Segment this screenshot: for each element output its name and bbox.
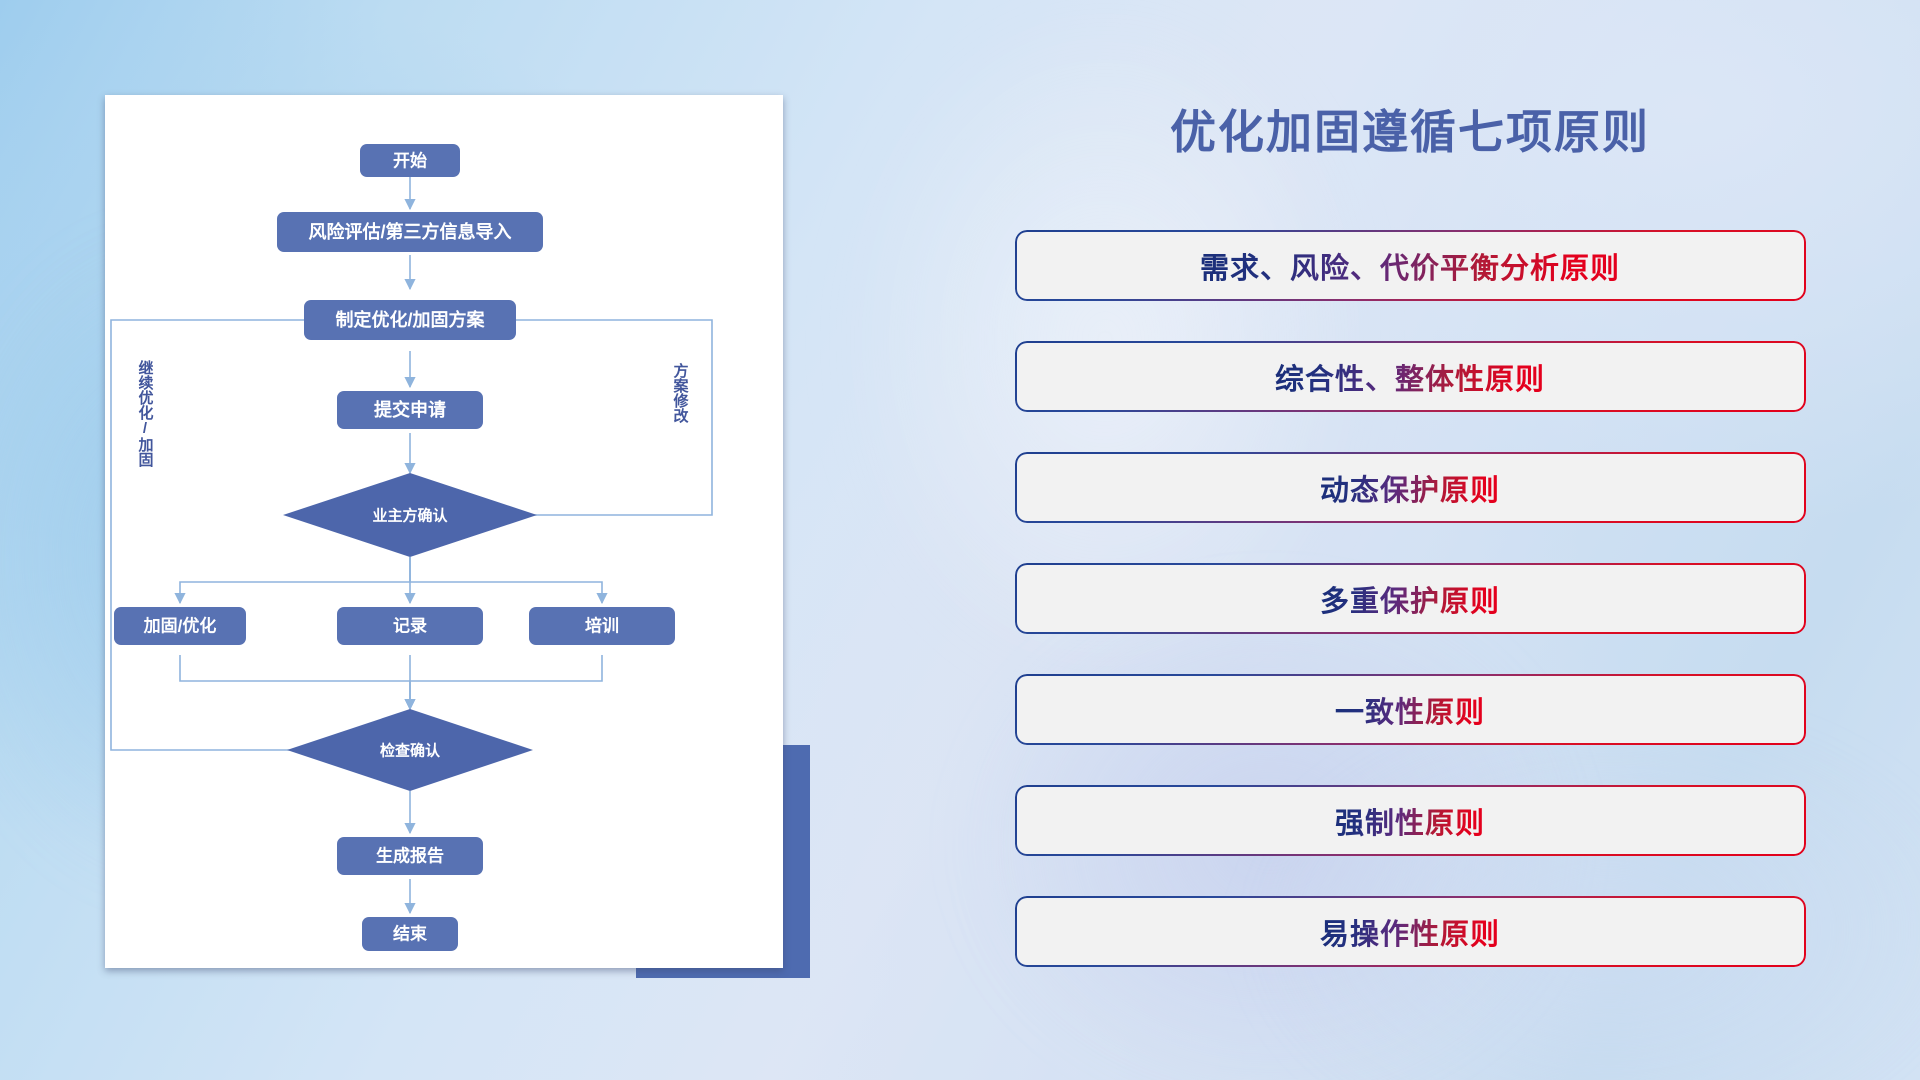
flow-node-end[interactable]: 结束 xyxy=(362,917,458,951)
flow-node-submit[interactable]: 提交申请 xyxy=(337,391,483,429)
flowchart-diagram: 开始 风险评估/第三方信息导入 制定优化/加固方案 提交申请 业主方确认 xyxy=(105,95,783,968)
principle-item-6[interactable]: 强制性原则 xyxy=(1017,787,1804,854)
flow-edge-label-left-loop: 继续优化/加固 xyxy=(137,359,155,468)
flow-node-submit-label: 提交申请 xyxy=(374,399,446,420)
principle-item-1[interactable]: 需求、风险、代价平衡分析原则 xyxy=(1017,232,1804,299)
principles-list: 需求、风险、代价平衡分析原则 综合性、整体性原则 动态保护原则 多重保护原则 一… xyxy=(900,232,1920,1009)
principle-label-4: 多重保护原则 xyxy=(1320,578,1500,620)
flow-node-record-label: 记录 xyxy=(393,617,427,636)
principle-label-1: 需求、风险、代价平衡分析原则 xyxy=(1200,245,1620,287)
flowchart-panel: 开始 风险评估/第三方信息导入 制定优化/加固方案 提交申请 业主方确认 xyxy=(0,0,900,1080)
principle-label-3: 动态保护原则 xyxy=(1320,467,1500,509)
flow-node-training[interactable]: 培训 xyxy=(529,607,675,645)
principle-item-7[interactable]: 易操作性原则 xyxy=(1017,898,1804,965)
principle-item-3[interactable]: 动态保护原则 xyxy=(1017,454,1804,521)
principle-label-5: 一致性原则 xyxy=(1335,689,1485,731)
flow-node-reinforce-label: 加固/优化 xyxy=(143,616,217,636)
principle-item-4[interactable]: 多重保护原则 xyxy=(1017,565,1804,632)
flow-node-start[interactable]: 开始 xyxy=(360,144,460,177)
flow-node-check-label: 检查确认 xyxy=(380,742,441,760)
flow-node-risk[interactable]: 风险评估/第三方信息导入 xyxy=(277,212,543,252)
flow-node-plan[interactable]: 制定优化/加固方案 xyxy=(304,300,516,340)
flow-node-owner-confirm-label: 业主方确认 xyxy=(372,507,448,525)
flow-edge-label-right-loop: 方案修改 xyxy=(672,362,690,424)
principles-panel: 优化加固遵循七项原则 需求、风险、代价平衡分析原则 综合性、整体性原则 动态保护… xyxy=(900,0,1920,1080)
flow-node-risk-label: 风险评估/第三方信息导入 xyxy=(309,221,512,242)
principle-label-2: 综合性、整体性原则 xyxy=(1275,356,1545,398)
flow-node-record[interactable]: 记录 xyxy=(337,607,483,645)
flow-node-reinforce[interactable]: 加固/优化 xyxy=(114,607,246,645)
flow-node-check[interactable]: 检查确认 xyxy=(287,709,533,791)
flow-node-training-label: 培训 xyxy=(585,616,619,636)
flow-node-start-label: 开始 xyxy=(393,151,427,171)
page-title: 优化加固遵循七项原则 xyxy=(900,96,1920,162)
flow-node-report[interactable]: 生成报告 xyxy=(337,837,483,875)
flow-nodes: 开始 风险评估/第三方信息导入 制定优化/加固方案 提交申请 业主方确认 xyxy=(114,144,675,951)
flow-node-owner-confirm[interactable]: 业主方确认 xyxy=(283,473,537,557)
flow-node-report-label: 生成报告 xyxy=(376,846,444,866)
flow-node-plan-label: 制定优化/加固方案 xyxy=(335,309,485,330)
principle-item-2[interactable]: 综合性、整体性原则 xyxy=(1017,343,1804,410)
principle-label-7: 易操作性原则 xyxy=(1320,911,1500,953)
flow-node-end-label: 结束 xyxy=(393,924,427,944)
principle-label-6: 强制性原则 xyxy=(1335,800,1485,842)
principle-item-5[interactable]: 一致性原则 xyxy=(1017,676,1804,743)
